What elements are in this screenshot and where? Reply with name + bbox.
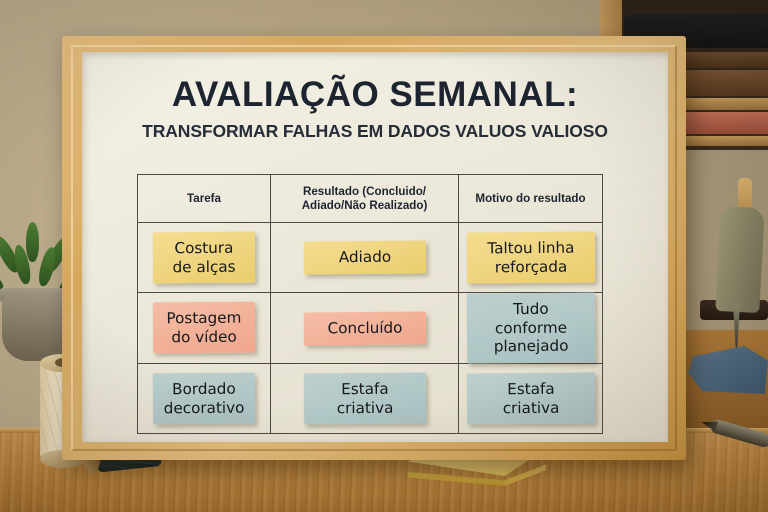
picture-frame: AVALIAÇÃO SEMANAL: TRANSFORMAR FALHAS EM… [62,36,686,460]
workspace-scene: AVALIAÇÃO SEMANAL: TRANSFORMAR FALHAS EM… [0,0,768,512]
cell-task: Bordado decorativo [138,363,271,433]
cell-result: Estafa criativa [271,363,459,433]
sticky-note-result[interactable]: Estafa criativa [303,372,425,424]
page-subtitle: TRANSFORMAR FALHAS EM DADOS VALUOS VALIO… [82,123,668,141]
cell-reason: Tudo conforme planejado [459,293,603,364]
table-row: Bordado decorativo Estafa criativa Estaf… [138,363,603,433]
evaluation-table: Tarefa Resultado (Concluido/ Adiado/Não … [137,174,603,434]
cell-task: Postagem do vídeo [138,293,271,364]
sticky-note-reason[interactable]: Estafa criativa [466,372,594,424]
cell-result: Concluído [271,293,459,364]
cell-reason: Estafa criativa [459,363,603,433]
column-header-tarefa: Tarefa [138,175,271,223]
table-header-row: Tarefa Resultado (Concluido/ Adiado/Não … [138,175,603,223]
cell-task: Costura de alças [138,223,271,293]
cell-reason: Taltou linha reforçada [459,223,603,293]
column-header-resultado: Resultado (Concluido/ Adiado/Não Realiza… [271,175,459,223]
column-header-motivo: Motivo do resultado [459,175,603,223]
sticky-note-task[interactable]: Bordado decorativo [153,372,255,424]
table-row: Costura de alças Adiado Taltou linha ref… [138,223,603,293]
page-title: AVALIAÇÃO SEMANAL: [82,77,668,112]
sticky-note-result[interactable]: Adiado [303,241,425,275]
whiteboard: AVALIAÇÃO SEMANAL: TRANSFORMAR FALHAS EM… [82,52,668,442]
sticky-note-reason[interactable]: Taltou linha reforçada [466,231,594,283]
sewing-machine-head [715,206,764,313]
table-row: Postagem do vídeo Concluído Tudo conform… [138,293,603,364]
sticky-note-task[interactable]: Postagem do vídeo [153,302,255,354]
cell-result: Adiado [271,223,459,293]
sticky-note-reason[interactable]: Tudo conforme planejado [466,292,595,363]
sticky-note-result[interactable]: Concluído [303,311,425,345]
sticky-note-task[interactable]: Costura de alças [153,232,255,284]
plant-leaf [26,222,39,262]
